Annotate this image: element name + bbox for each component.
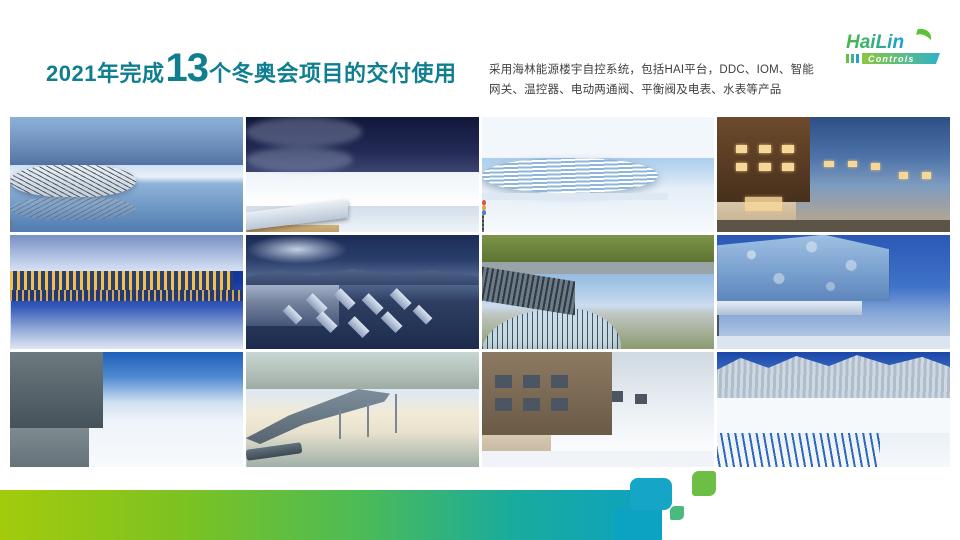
gallery-image-chongli-resort-hotels [717,117,950,232]
svg-text:Controls: Controls [868,54,915,64]
description-text: 采用海林能源楼宇自控系统，包括HAI平台，DDC、IOM、智能 网关、温控器、电… [489,60,849,100]
description-line-1: 采用海林能源楼宇自控系统，包括HAI平台，DDC、IOM、智能 [489,60,849,80]
footer-gradient-bar [0,490,658,540]
title-highlight-number: 13 [165,46,208,90]
leaf-icon [916,29,931,40]
footer-green-square-large [692,471,716,496]
logo-artwork: HaiLin Controls [844,26,944,68]
footer-green-square-small [670,506,684,520]
gallery-image-national-aquatics-centre-water-cube [717,235,950,350]
svg-text:HaiLin: HaiLin [846,32,904,53]
footer-teal-step-shape [630,478,672,510]
gallery-image-curved-glass-conference-centre [482,235,715,350]
page-title: 2021年完成13个冬奥会项目的交付使用 [46,48,456,88]
gallery-image-national-stadium-birds-nest [10,117,243,232]
hailin-controls-logo: HaiLin Controls HaiLin Controls [844,26,944,68]
slide-footer-decoration [0,450,960,540]
footer-gradient-tail [614,508,662,540]
title-part-1: 2021年完成 [46,61,164,86]
description-line-2: 网关、温控器、电动两通阀、平衡阀及电表、水表等产品 [489,80,849,100]
project-image-gallery [10,117,950,467]
gallery-image-cross-country-skiing-centre [246,117,479,232]
gallery-image-national-speed-skating-oval-ice-ribbon [482,117,715,232]
title-part-2: 个冬奥会项目的交付使用 [209,61,457,86]
gallery-image-olympic-village-aerial-view [246,235,479,350]
gallery-image-night-venue-grandstand-lights [10,235,243,350]
slide-header: 2021年完成13个冬奥会项目的交付使用 采用海林能源楼宇自控系统，包括HAI平… [0,0,960,117]
